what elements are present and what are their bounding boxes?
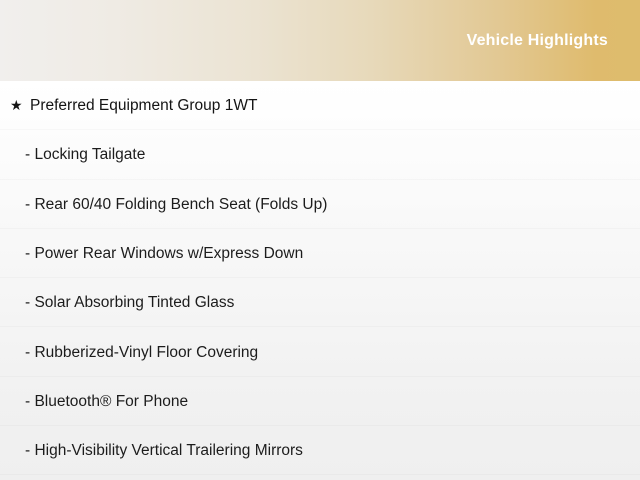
list-item-label: - Rubberized-Vinyl Floor Covering [25, 328, 258, 377]
list-item-label: - High-Visibility Vertical Trailering Mi… [25, 426, 303, 475]
list-item: - Locking Tailgate [0, 130, 640, 179]
list-item-label: Preferred Equipment Group 1WT [30, 81, 257, 130]
list-item-label: - Power Rear Windows w/Express Down [25, 229, 303, 278]
panel-header: Vehicle Highlights [0, 0, 640, 81]
list-item: - High-Visibility Vertical Trailering Mi… [0, 426, 640, 475]
list-item: - Power Rear Windows w/Express Down [0, 229, 640, 278]
list-item-label: - Rear 60/40 Folding Bench Seat (Folds U… [25, 180, 327, 229]
list-item: - Rubberized-Vinyl Floor Covering [0, 327, 640, 376]
list-item-label: - Locking Tailgate [25, 130, 145, 179]
page-title: Vehicle Highlights [467, 33, 608, 49]
highlights-list: ★Preferred Equipment Group 1WT- Locking … [0, 81, 640, 475]
list-item: - Solar Absorbing Tinted Glass [0, 278, 640, 327]
list-item: - Rear 60/40 Folding Bench Seat (Folds U… [0, 180, 640, 229]
panel-body: ★Preferred Equipment Group 1WT- Locking … [0, 81, 640, 480]
star-icon: ★ [10, 81, 30, 130]
list-item-label: - Bluetooth® For Phone [25, 377, 188, 426]
list-item: - Bluetooth® For Phone [0, 377, 640, 426]
vehicle-highlights-panel: Vehicle Highlights ★Preferred Equipment … [0, 0, 640, 480]
list-item: ★Preferred Equipment Group 1WT [0, 81, 640, 130]
list-item-label: - Solar Absorbing Tinted Glass [25, 278, 234, 327]
